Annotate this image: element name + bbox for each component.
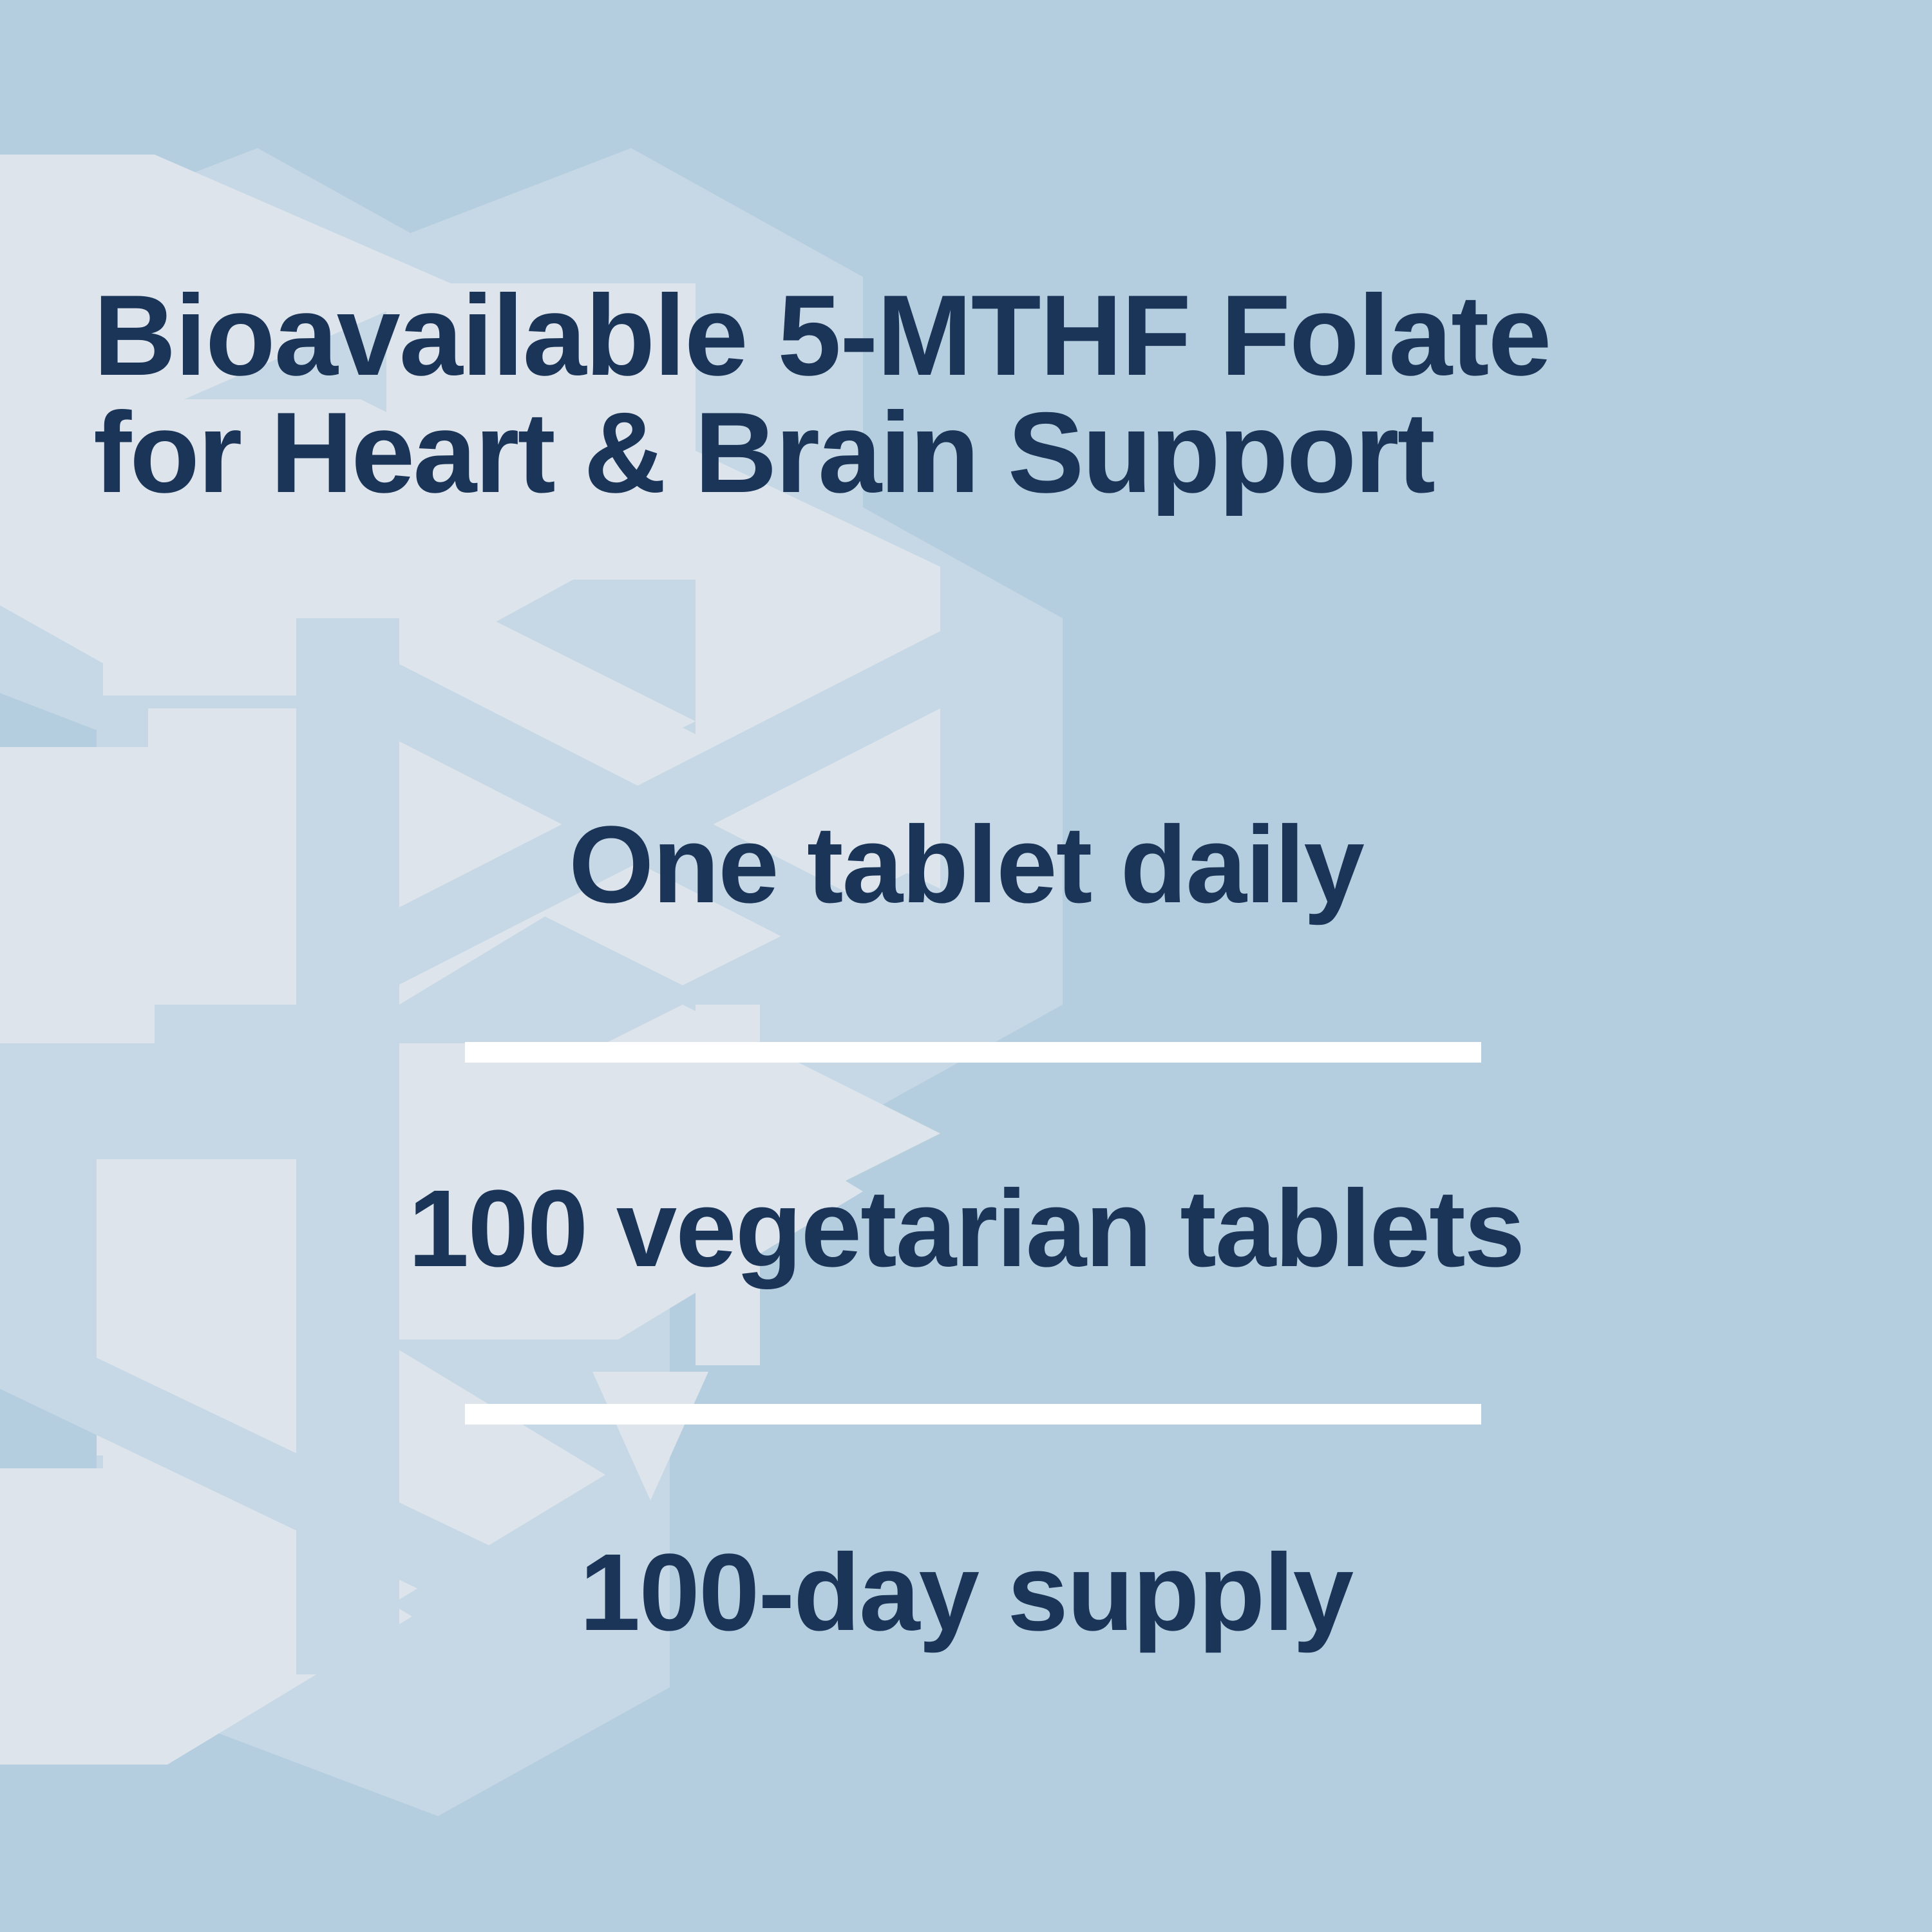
benefit-text-count: 100 vegetarian tablets [0,1166,1932,1292]
divider-line-2 [465,1404,1481,1425]
heading-block: Bioavailable 5-MTHF Folate for Heart & B… [93,277,1858,511]
divider-line-1 [465,1042,1481,1063]
benefit-text-supply: 100-day supply [0,1529,1932,1656]
heading-line-2: for Heart & Brain Support [93,394,1858,511]
benefit-text-dosage: One tablet daily [0,802,1932,928]
panel-content: Bioavailable 5-MTHF Folate for Heart & B… [0,0,1932,1932]
heading-line-1: Bioavailable 5-MTHF Folate [93,277,1858,394]
product-benefits-panel: Bioavailable 5-MTHF Folate for Heart & B… [0,0,1932,1932]
